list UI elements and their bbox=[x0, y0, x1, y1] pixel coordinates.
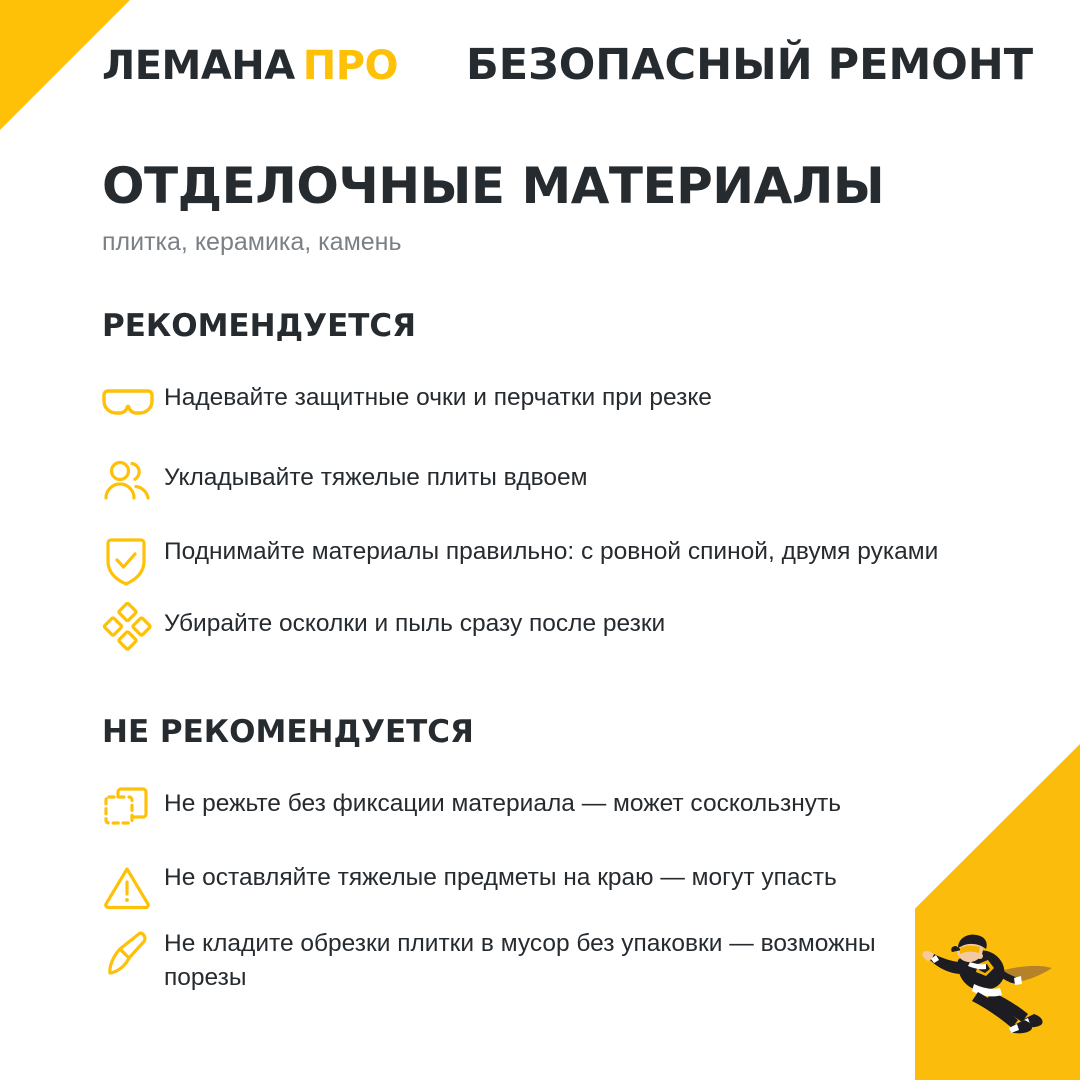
flying-superhero-mascot bbox=[918, 928, 1068, 1048]
list-item: Не режьте без фиксации материала — может… bbox=[102, 779, 982, 833]
list-item: Надевайте защитные очки и перчатки при р… bbox=[102, 373, 982, 427]
list-item: Убирайте осколки и пыль сразу после резк… bbox=[102, 599, 982, 653]
section-not-recommended: НЕ РЕКОМЕНДУЕТСЯ Не режьте без фиксации … bbox=[102, 715, 982, 995]
knife-blade-icon bbox=[102, 925, 164, 979]
list-item-text: Укладывайте тяжелые плиты вдвоем bbox=[164, 453, 954, 495]
list-item: Укладывайте тяжелые плиты вдвоем bbox=[102, 453, 982, 507]
page-title: ОТДЕЛОЧНЫЕ МАТЕРИАЛЫ bbox=[102, 160, 982, 213]
shield-check-icon bbox=[102, 533, 164, 587]
header: ЛЕМАНАПРО БЕЗОПАСНЫЙ РЕМОНТ bbox=[0, 0, 1080, 132]
warning-triangle-icon bbox=[102, 859, 164, 913]
list-item-text: Надевайте защитные очки и перчатки при р… bbox=[164, 373, 954, 415]
safety-goggles-icon bbox=[102, 373, 164, 427]
not-recommended-item-list: Не режьте без фиксации материала — может… bbox=[102, 779, 982, 995]
brand-logo-name: ЛЕМАНА bbox=[102, 43, 295, 89]
section-heading-not-recommended: НЕ РЕКОМЕНДУЕТСЯ bbox=[102, 715, 982, 749]
list-item: Поднимайте материалы правильно: с ровной… bbox=[102, 533, 982, 587]
list-item-text: Не оставляйте тяжелые предметы на краю —… bbox=[164, 859, 954, 895]
brand-logo: ЛЕМАНАПРО bbox=[102, 46, 398, 86]
campaign-title: БЕЗОПАСНЫЙ РЕМОНТ bbox=[466, 44, 1033, 87]
list-item-text: Не кладите обрезки плитки в мусор без уп… bbox=[164, 925, 954, 995]
brand-logo-suffix: ПРО bbox=[303, 43, 398, 89]
list-item-text: Не режьте без фиксации материала — может… bbox=[164, 779, 954, 821]
main-content: ОТДЕЛОЧНЫЕ МАТЕРИАЛЫ плитка, керамика, к… bbox=[102, 160, 982, 1007]
list-item-text: Поднимайте материалы правильно: с ровной… bbox=[164, 533, 954, 569]
unfixed-slab-icon bbox=[102, 779, 164, 833]
section-recommended: РЕКОМЕНДУЕТСЯ Надевайте защитные очки и … bbox=[102, 309, 982, 653]
list-item: Не оставляйте тяжелые предметы на краю —… bbox=[102, 859, 982, 913]
list-item-text: Убирайте осколки и пыль сразу после резк… bbox=[164, 599, 954, 641]
two-people-icon bbox=[102, 453, 164, 507]
page-subtitle: плитка, керамика, камень bbox=[102, 227, 982, 257]
diamond-shards-icon bbox=[102, 599, 164, 653]
section-heading-recommended: РЕКОМЕНДУЕТСЯ bbox=[102, 309, 982, 343]
recommended-item-list: Надевайте защитные очки и перчатки при р… bbox=[102, 373, 982, 653]
list-item: Не кладите обрезки плитки в мусор без уп… bbox=[102, 925, 982, 995]
